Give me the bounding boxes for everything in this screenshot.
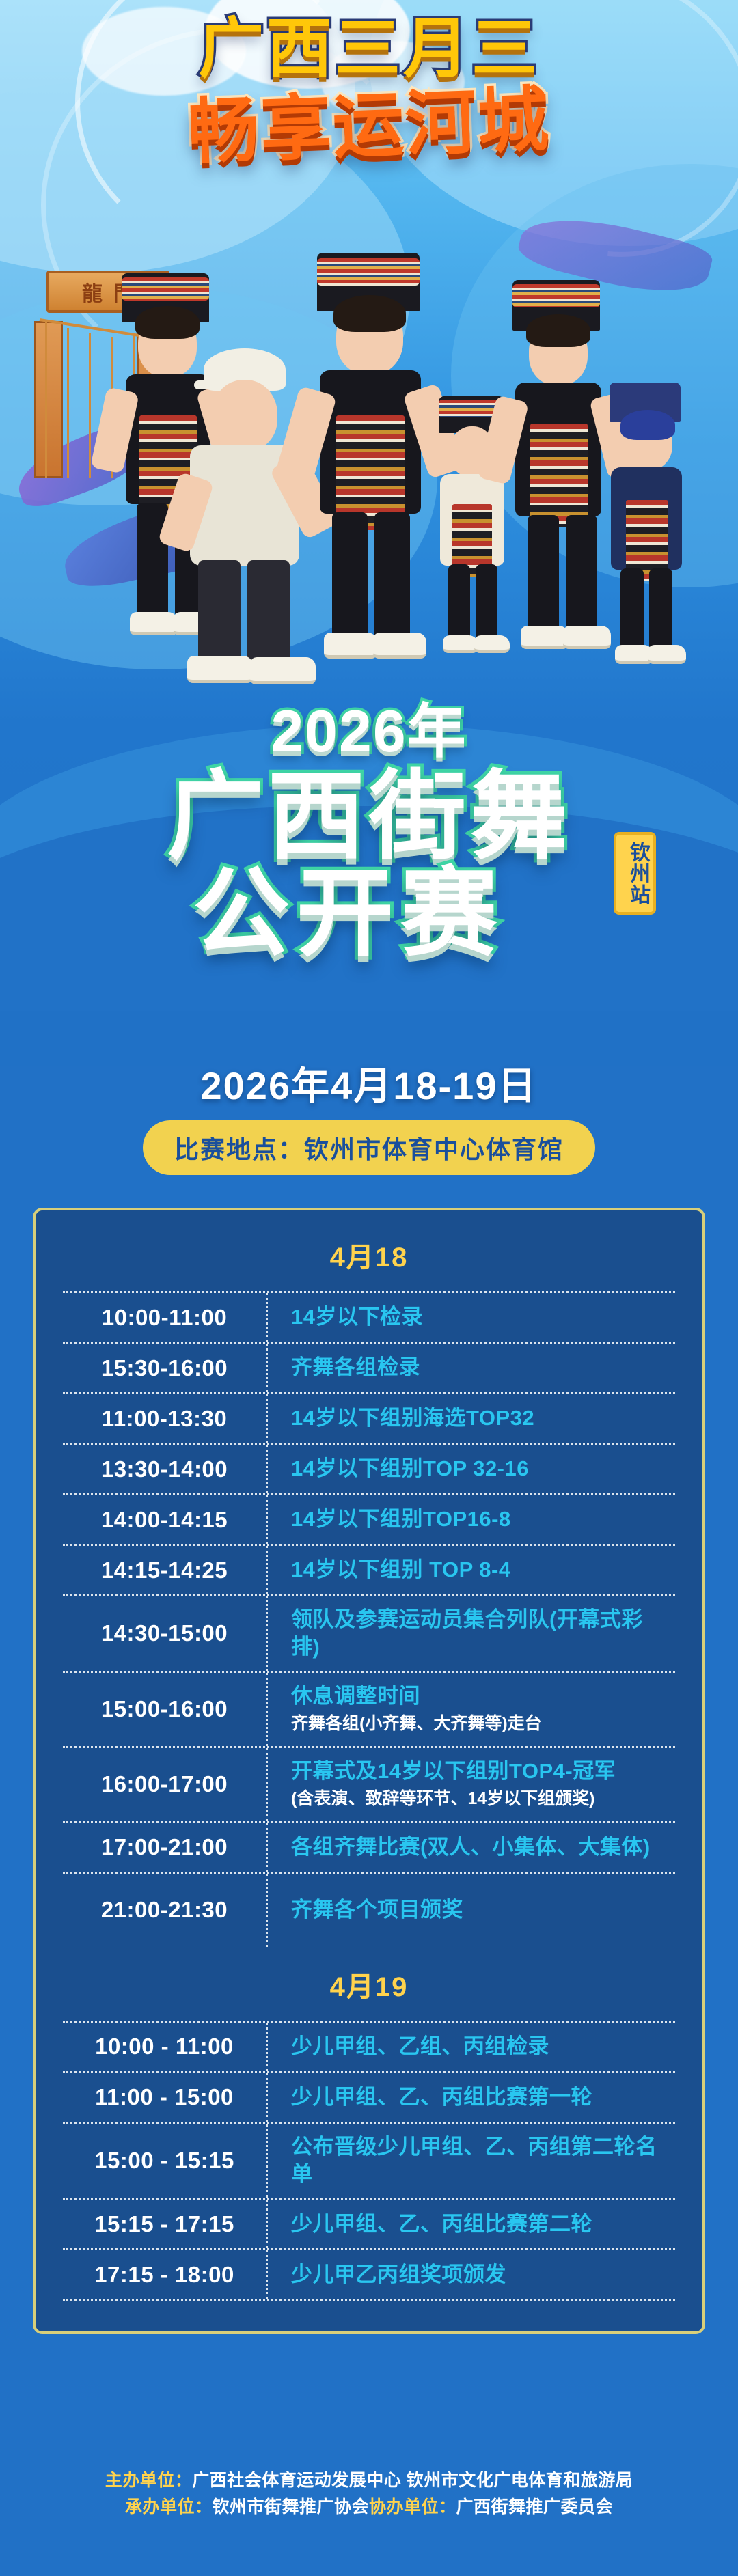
- row-desc: 开幕式及14岁以下组别TOP4-冠军 (含表演、致辞等环节、14岁以下组颁奖): [268, 1748, 675, 1821]
- table-row: 17:00-21:00 各组齐舞比赛(双人、小集体、大集体): [63, 1821, 675, 1872]
- dancer-figure-6: [593, 383, 709, 676]
- main-title-block: 2026年 广西街舞 公开赛 钦州站: [0, 683, 738, 1038]
- table-row: 10:00-11:00 14岁以下检录: [63, 1291, 675, 1342]
- art-title-line-1: 广西三月三: [82, 14, 656, 85]
- footer-credits: 主办单位：广西社会体育运动发展中心 钦州市文化广电体育和旅游局 承办单位：钦州市…: [0, 2467, 738, 2521]
- row-time: 16:00-17:00: [63, 1748, 268, 1821]
- row-time: 15:00-16:00: [63, 1673, 268, 1746]
- row-desc-main: 14岁以下检录: [291, 1303, 668, 1331]
- row-desc: 齐舞各个项目颁奖: [268, 1874, 675, 1947]
- row-time: 14:15-14:25: [63, 1546, 268, 1594]
- footer-coorganizer-label: 协办单位：: [369, 2497, 456, 2517]
- row-desc-sub: (含表演、致辞等环节、14岁以下组颁奖): [291, 1788, 668, 1811]
- title-line-2: 公开赛: [0, 865, 717, 962]
- table-row: 17:15 - 18:00 少儿甲乙丙组奖项颁发: [63, 2248, 675, 2299]
- schedule-panel: 4月18 10:00-11:00 14岁以下检录 15:30-16:00 齐舞各…: [33, 1208, 705, 2334]
- row-desc: 领队及参赛运动员集合列队(开幕式彩排): [268, 1596, 675, 1671]
- row-desc: 14岁以下组别 TOP 8-4: [268, 1546, 675, 1594]
- station-badge: 钦州站: [614, 832, 656, 915]
- row-time: 14:30-15:00: [63, 1596, 268, 1671]
- row-desc: 14岁以下组别海选TOP32: [268, 1394, 675, 1443]
- row-time: 13:30-14:00: [63, 1445, 268, 1493]
- row-desc: 14岁以下组别TOP 32-16: [268, 1445, 675, 1493]
- row-time: 15:00 - 15:15: [63, 2124, 268, 2198]
- table-row: 11:00-13:30 14岁以下组别海选TOP32: [63, 1392, 675, 1443]
- event-venue: 比赛地点：钦州市体育中心体育馆: [143, 1120, 595, 1175]
- row-time: 11:00-13:30: [63, 1394, 268, 1443]
- art-title-line-2: 畅享运河城: [81, 79, 657, 173]
- table-row: 21:00-21:30 齐舞各个项目颁奖: [63, 1872, 675, 1947]
- event-date: 2026年4月18-19日: [0, 1055, 738, 1111]
- row-desc-main: 少儿甲组、乙、丙组比赛第一轮: [291, 2083, 668, 2111]
- schedule-day1-header: 4月18: [36, 1217, 702, 1291]
- table-row: 11:00 - 15:00 少儿甲组、乙、丙组比赛第一轮: [63, 2071, 675, 2122]
- row-desc: 各组齐舞比赛(双人、小集体、大集体): [268, 1823, 675, 1872]
- row-time: 14:00-14:15: [63, 1495, 268, 1544]
- row-time: 17:15 - 18:00: [63, 2250, 268, 2299]
- row-desc: 少儿甲组、乙、丙组比赛第二轮: [268, 2200, 675, 2248]
- row-time: 10:00-11:00: [63, 1293, 268, 1342]
- footer-coorganizer-value: 广西街舞推广委员会: [456, 2497, 614, 2517]
- row-time: 17:00-21:00: [63, 1823, 268, 1872]
- footer-line-1: 主办单位：广西社会体育运动发展中心 钦州市文化广电体育和旅游局: [0, 2467, 738, 2494]
- table-row: 14:00-14:15 14岁以下组别TOP16-8: [63, 1493, 675, 1544]
- row-desc: 14岁以下检录: [268, 1293, 675, 1342]
- row-time: 15:15 - 17:15: [63, 2200, 268, 2248]
- table-row: 16:00-17:00 开幕式及14岁以下组别TOP4-冠军 (含表演、致辞等环…: [63, 1746, 675, 1821]
- row-time: 10:00 - 11:00: [63, 2023, 268, 2071]
- festival-art-title: 广西三月三 畅享运河城: [82, 14, 656, 219]
- row-time: 15:30-16:00: [63, 1344, 268, 1392]
- row-desc-main: 齐舞各个项目颁奖: [291, 1896, 668, 1924]
- table-row: 15:15 - 17:15 少儿甲组、乙、丙组比赛第二轮: [63, 2198, 675, 2248]
- row-desc-sub: 齐舞各组(小齐舞、大齐舞等)走台: [291, 1713, 668, 1736]
- row-desc-main: 开幕式及14岁以下组别TOP4-冠军: [291, 1758, 668, 1785]
- row-time: 21:00-21:30: [63, 1874, 268, 1947]
- title-year: 2026年: [0, 683, 738, 768]
- row-desc: 14岁以下组别TOP16-8: [268, 1495, 675, 1544]
- row-desc: 公布晋级少儿甲组、乙、丙组第二轮名单: [268, 2124, 675, 2198]
- row-desc: 少儿甲组、乙组、丙组检录: [268, 2023, 675, 2071]
- row-desc: 齐舞各组检录: [268, 1344, 675, 1392]
- table-row: 15:00 - 15:15 公布晋级少儿甲组、乙、丙组第二轮名单: [63, 2122, 675, 2198]
- schedule-day2-header: 4月19: [36, 1947, 702, 2021]
- row-desc-main: 少儿甲乙丙组奖项颁发: [291, 2261, 668, 2288]
- dancer-characters: [0, 225, 738, 731]
- row-desc: 少儿甲组、乙、丙组比赛第一轮: [268, 2073, 675, 2122]
- table-row: 15:00-16:00 休息调整时间 齐舞各组(小齐舞、大齐舞等)走台: [63, 1671, 675, 1746]
- row-desc-main: 14岁以下组别 TOP 8-4: [291, 1556, 668, 1583]
- row-time: 11:00 - 15:00: [63, 2073, 268, 2122]
- table-row: 10:00 - 11:00 少儿甲组、乙组、丙组检录: [63, 2021, 675, 2071]
- row-desc-main: 齐舞各组检录: [291, 1354, 668, 1381]
- schedule-bottom-divider: [63, 2299, 675, 2316]
- row-desc-main: 公布晋级少儿甲组、乙、丙组第二轮名单: [291, 2133, 668, 2189]
- footer-line-2: 承办单位：钦州市街舞推广协会协办单位：广西街舞推广委员会: [0, 2494, 738, 2521]
- row-desc-main: 少儿甲组、乙组、丙组检录: [291, 2033, 668, 2060]
- table-row: 13:30-14:00 14岁以下组别TOP 32-16: [63, 1443, 675, 1493]
- table-row: 14:30-15:00 领队及参赛运动员集合列队(开幕式彩排): [63, 1594, 675, 1671]
- table-row: 14:15-14:25 14岁以下组别 TOP 8-4: [63, 1544, 675, 1594]
- table-row: 15:30-16:00 齐舞各组检录: [63, 1342, 675, 1392]
- row-desc-main: 领队及参赛运动员集合列队(开幕式彩排): [291, 1606, 668, 1661]
- row-desc-main: 14岁以下组别海选TOP32: [291, 1404, 668, 1432]
- row-desc: 休息调整时间 齐舞各组(小齐舞、大齐舞等)走台: [268, 1673, 675, 1746]
- row-desc-main: 14岁以下组别TOP16-8: [291, 1506, 668, 1533]
- row-desc-main: 各组齐舞比赛(双人、小集体、大集体): [291, 1833, 668, 1861]
- row-desc-main: 14岁以下组别TOP 32-16: [291, 1455, 668, 1482]
- footer-host-label: 主办单位：: [105, 2471, 193, 2490]
- row-desc-main: 休息调整时间: [291, 1682, 668, 1710]
- row-desc-main: 少儿甲组、乙、丙组比赛第二轮: [291, 2211, 668, 2238]
- footer-organizer-value: 钦州市街舞推广协会: [212, 2497, 369, 2517]
- footer-host-value: 广西社会体育运动发展中心 钦州市文化广电体育和旅游局: [192, 2471, 633, 2490]
- footer-organizer-label: 承办单位：: [125, 2497, 213, 2517]
- row-desc: 少儿甲乙丙组奖项颁发: [268, 2250, 675, 2299]
